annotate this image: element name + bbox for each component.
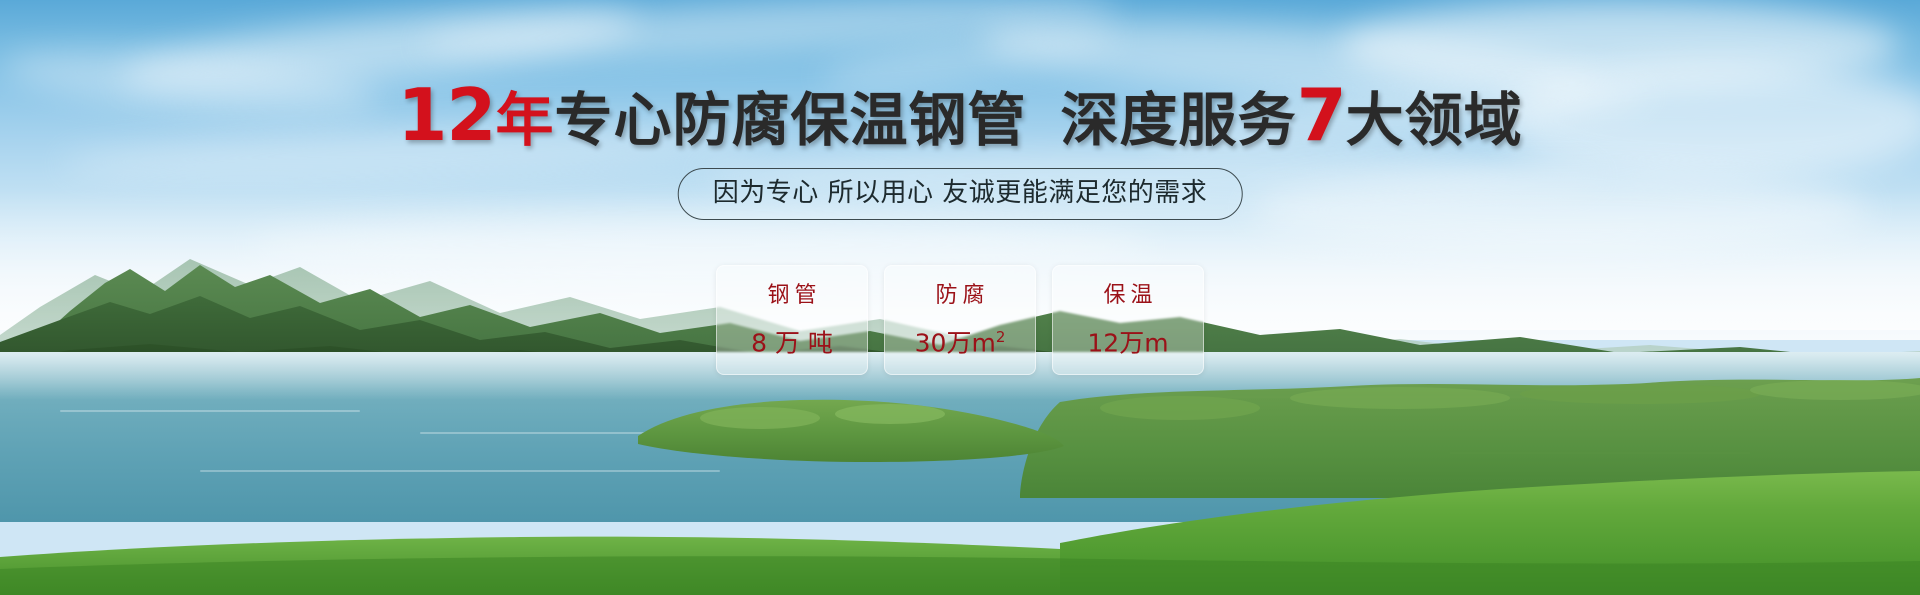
headline-main-text: 专心防腐保温钢管 [555, 86, 1027, 154]
stat-card-label: 防腐 [930, 283, 989, 309]
stat-card-value-sup: 2 [996, 328, 1006, 346]
stat-card-label: 保温 [1098, 283, 1157, 309]
banner-content: 12年专心防腐保温钢管深度服务7大领域 因为专心 所以用心 友诚更能满足您的需求… [0, 0, 1920, 595]
headline-fields-text: 大领域 [1346, 86, 1523, 154]
stat-card-value-text: 8 万 吨 [751, 328, 833, 357]
headline-years-number: 12 [397, 73, 495, 157]
stat-card-value: 12万m [1087, 323, 1168, 357]
banner-headline: 12年专心防腐保温钢管深度服务7大领域 [0, 84, 1920, 151]
headline-service-text: 深度服务 [1061, 86, 1297, 154]
stat-card-value-text: 12万m [1087, 328, 1168, 357]
stat-card-value: 30万m2 [915, 323, 1006, 357]
headline-fields-number: 7 [1297, 73, 1346, 157]
stat-card-value: 8 万 吨 [751, 323, 833, 357]
stat-card-label: 钢管 [762, 283, 821, 309]
stat-cards: 钢管 8 万 吨 防腐 30万m2 保温 12万m [716, 265, 1204, 375]
banner-subtitle-pill: 因为专心 所以用心 友诚更能满足您的需求 [678, 168, 1243, 220]
stat-card-anticorrosion: 防腐 30万m2 [884, 265, 1036, 375]
stat-card-value-text: 30万m [915, 328, 996, 357]
stat-card-insulation: 保温 12万m [1052, 265, 1204, 375]
headline-years-unit: 年 [496, 86, 555, 154]
stat-card-steel-pipe: 钢管 8 万 吨 [716, 265, 868, 375]
hero-banner: 12年专心防腐保温钢管深度服务7大领域 因为专心 所以用心 友诚更能满足您的需求… [0, 0, 1920, 595]
